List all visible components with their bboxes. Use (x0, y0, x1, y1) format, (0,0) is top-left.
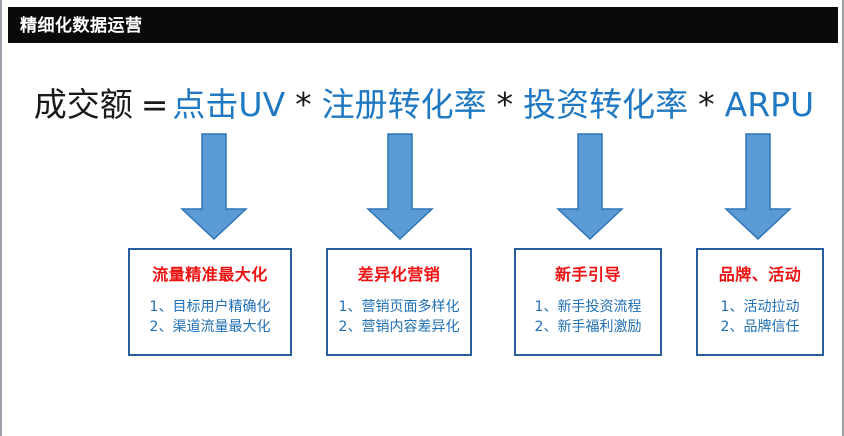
formula-operator-2: * (487, 88, 524, 121)
arrow-down-icon-1 (180, 133, 248, 241)
arrow-down-icon-2 (366, 133, 434, 241)
list-item: 1、新手投资流程 (535, 297, 642, 317)
arrow-down-icon-3 (556, 133, 624, 241)
strategy-box-list: 1、新手投资流程 2、新手福利激励 (535, 297, 642, 338)
strategy-box-title: 流量精准最大化 (152, 261, 268, 285)
strategy-box-3: 新手引导 1、新手投资流程 2、新手福利激励 (514, 248, 662, 356)
strategy-box-title: 差异化营销 (358, 261, 441, 285)
list-item: 1、活动拉动 (721, 297, 800, 317)
formula-term-2: 注册转化率 (322, 88, 487, 121)
formula-row: 成交额 = 点击UV * 注册转化率 * 投资转化率 * ARPU (2, 78, 844, 130)
strategy-box-list: 1、营销页面多样化 2、营销内容差异化 (339, 297, 460, 338)
formula-term-3: 投资转化率 (523, 88, 688, 121)
formula-operator-1: * (285, 88, 322, 121)
list-item: 2、品牌信任 (721, 317, 800, 337)
slide-title-bar: 精细化数据运营 (8, 7, 838, 43)
arrow-down-icon-4 (724, 133, 792, 241)
page-title: 精细化数据运营 (8, 17, 143, 34)
strategy-box-2: 差异化营销 1、营销页面多样化 2、营销内容差异化 (326, 248, 472, 356)
strategy-box-1: 流量精准最大化 1、目标用户精确化 2、渠道流量最大化 (128, 248, 292, 356)
strategy-box-list: 1、目标用户精确化 2、渠道流量最大化 (150, 297, 271, 338)
slide-canvas: 精细化数据运营 成交额 = 点击UV * 注册转化率 * 投资转化率 * ARP… (0, 0, 844, 436)
formula-operator-3: * (688, 88, 725, 121)
strategy-box-title: 新手引导 (555, 261, 621, 285)
formula-term-1: 点击UV (172, 88, 285, 121)
formula-equals-sign: = (133, 88, 173, 121)
list-item: 2、渠道流量最大化 (150, 317, 271, 337)
strategy-box-list: 1、活动拉动 2、品牌信任 (721, 297, 800, 338)
list-item: 1、目标用户精确化 (150, 297, 271, 317)
strategy-box-title: 品牌、活动 (719, 261, 802, 285)
strategy-box-4: 品牌、活动 1、活动拉动 2、品牌信任 (696, 248, 824, 356)
formula-result-label: 成交额 (34, 88, 133, 121)
list-item: 2、新手福利激励 (535, 317, 642, 337)
formula-term-4: ARPU (725, 88, 815, 121)
list-item: 2、营销内容差异化 (339, 317, 460, 337)
list-item: 1、营销页面多样化 (339, 297, 460, 317)
